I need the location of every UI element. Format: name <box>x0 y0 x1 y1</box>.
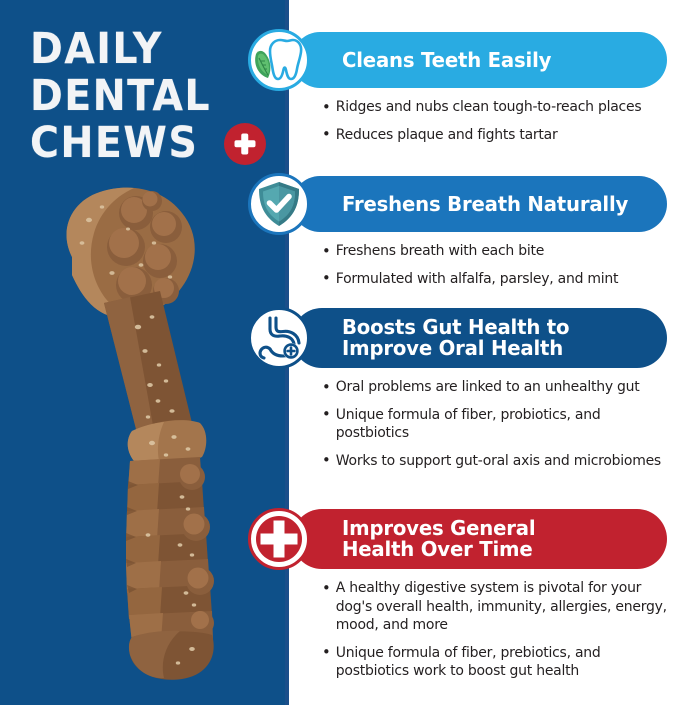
bullet-item: Ridges and nubs clean tough-to-reach pla… <box>322 98 673 117</box>
feature-bullets: Oral problems are linked to an unhealthy… <box>322 378 678 479</box>
title-line-2: DENTAL <box>30 73 246 120</box>
feature-banner: Cleans Teeth Easily <box>292 32 667 88</box>
medical-cross-circle-icon <box>248 508 310 570</box>
medical-cross-icon <box>224 123 266 165</box>
chew-tip <box>129 631 214 680</box>
stomach-plus-icon <box>248 307 310 369</box>
bullet-item: Formulated with alfalfa, parsley, and mi… <box>322 270 673 289</box>
bullet-item: Reduces plaque and fights tartar <box>322 126 673 145</box>
feature-title: Boosts Gut Health to Improve Oral Health <box>342 317 569 359</box>
tooth <box>270 40 301 79</box>
bullet-item: Unique formula of fiber, prebiotics, and… <box>322 644 673 681</box>
mint-leaf <box>255 51 270 78</box>
features-list: Cleans Teeth Easily Ridges and nubs clea… <box>292 0 679 705</box>
infographic-poster: DAILY DENTAL CHEWS <box>0 0 679 705</box>
feature-title: Freshens Breath Naturally <box>342 194 628 215</box>
feature-banner: Freshens Breath Naturally <box>292 176 667 232</box>
feature-bullets: A healthy digestive system is pivotal fo… <box>322 579 678 690</box>
bullet-item: Oral problems are linked to an unhealthy… <box>322 378 673 397</box>
feature-banner: Improves General Health Over Time <box>292 509 667 569</box>
tooth-mint-leaf-icon <box>248 29 310 91</box>
bullet-item: Works to support gut-oral axis and micro… <box>322 452 673 471</box>
feature-bullets: Ridges and nubs clean tough-to-reach pla… <box>322 98 678 153</box>
title-line-3: CHEWS <box>30 120 198 167</box>
chew-neck <box>104 291 192 437</box>
title-line-1: DAILY <box>30 26 246 73</box>
page-title: DAILY DENTAL CHEWS <box>30 26 265 167</box>
bullet-item: A healthy digestive system is pivotal fo… <box>322 579 673 635</box>
feature-title: Improves General Health Over Time <box>342 518 535 560</box>
dog-dental-chew-illustration <box>42 185 262 695</box>
bullet-item: Freshens breath with each bite <box>322 242 673 261</box>
feature-bullets: Freshens breath with each bite Formulate… <box>322 242 678 297</box>
feature-title: Cleans Teeth Easily <box>342 50 551 71</box>
title-line-3-row: CHEWS <box>30 120 265 167</box>
bullet-item: Unique formula of fiber, probiotics, and… <box>322 406 673 443</box>
shield-check-icon <box>248 173 310 235</box>
feature-banner: Boosts Gut Health to Improve Oral Health <box>292 308 667 368</box>
chew-ridged-body <box>126 457 214 643</box>
